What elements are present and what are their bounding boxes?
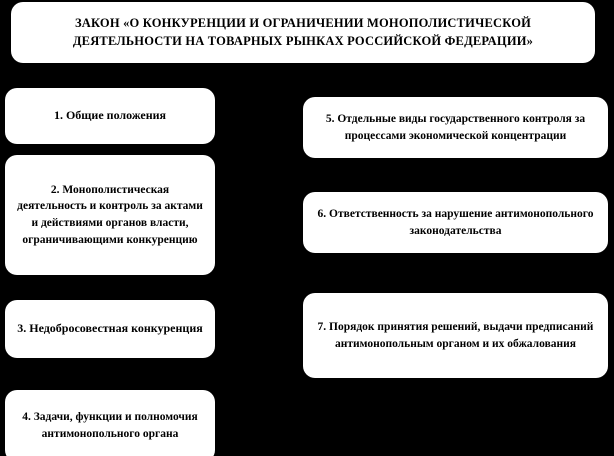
diagram-node-3: 3. Недобросовестная конкуренция xyxy=(5,300,215,358)
diagram-node-5: 5. Отдельные виды государственного контр… xyxy=(303,97,608,158)
diagram-node-7-label: 7. Порядок принятия решений, выдачи пред… xyxy=(313,319,598,352)
diagram-node-1-label: 1. Общие положения xyxy=(15,108,205,123)
diagram-node-7: 7. Порядок принятия решений, выдачи пред… xyxy=(303,293,608,378)
diagram-node-5-label: 5. Отдельные виды государственного контр… xyxy=(313,111,598,144)
diagram-node-2: 2. Монополистическая деятельность и конт… xyxy=(5,155,215,275)
diagram-title-label: ЗАКОН «О КОНКУРЕНЦИИ И ОГРАНИЧЕНИИ МОНОП… xyxy=(21,15,585,50)
diagram-canvas: ЗАКОН «О КОНКУРЕНЦИИ И ОГРАНИЧЕНИИ МОНОП… xyxy=(0,0,614,456)
diagram-node-4: 4. Задачи, функции и полномочия антимоно… xyxy=(5,390,215,456)
diagram-title-box: ЗАКОН «О КОНКУРЕНЦИИ И ОГРАНИЧЕНИИ МОНОП… xyxy=(11,2,595,63)
diagram-node-6: 6. Ответственность за нарушение антимоно… xyxy=(303,192,608,253)
diagram-node-1: 1. Общие положения xyxy=(5,88,215,144)
diagram-node-4-label: 4. Задачи, функции и полномочия антимоно… xyxy=(15,409,205,442)
diagram-node-3-label: 3. Недобросовестная конкуренция xyxy=(15,320,205,337)
diagram-node-2-label: 2. Монополистическая деятельность и конт… xyxy=(15,182,205,249)
diagram-node-6-label: 6. Ответственность за нарушение антимоно… xyxy=(313,206,598,239)
